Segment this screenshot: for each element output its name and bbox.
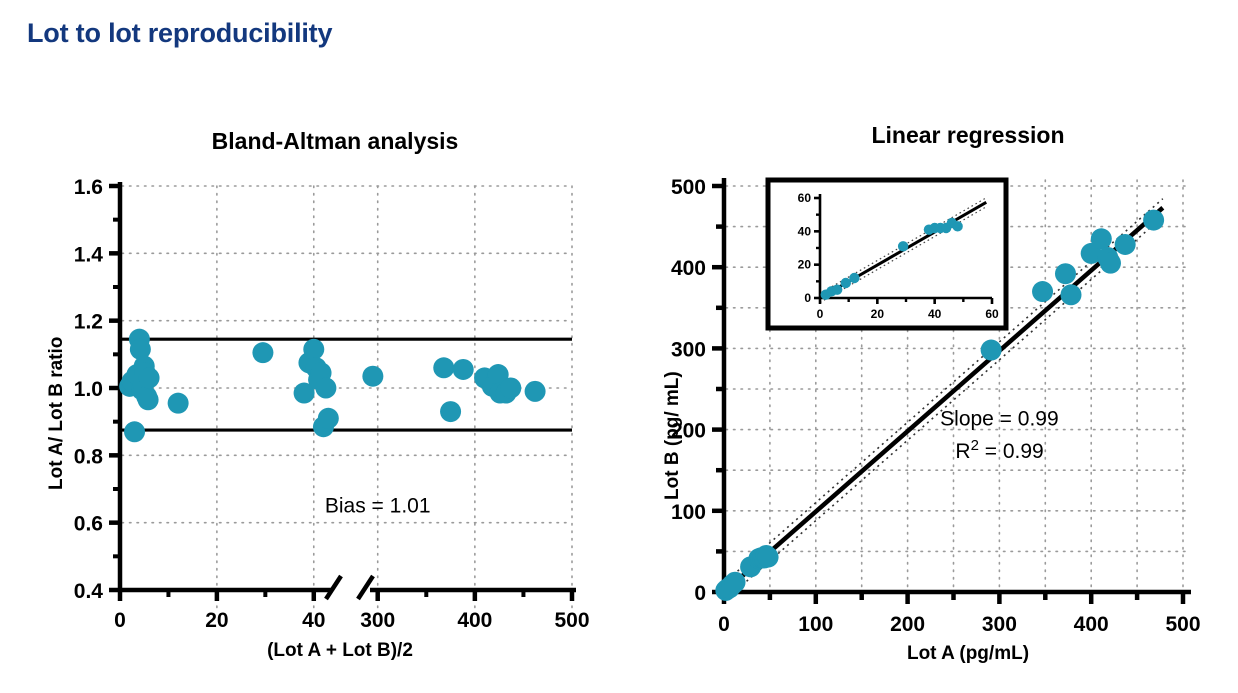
inset-data-point [849,273,859,283]
y-tick-label: 1.4 [74,243,104,266]
bland-altman-plot-area: 0.40.60.81.01.21.41.602040300400500Bias … [0,0,620,693]
y-tick-label: 0.6 [74,513,103,536]
r-squared-annotation: R2 = 0.99 [955,437,1043,463]
y-tick-label: 400 [671,257,706,280]
data-point [1100,253,1121,274]
chart-linear-regression: Linear regression Lot B (pg/ mL) Lot A (… [618,0,1238,693]
inset-x-tick-label: 60 [985,307,999,321]
y-tick-label: 500 [671,176,706,199]
inset-x-tick-label: 0 [817,307,824,321]
inset-data-point [898,241,908,251]
x-tick-label: 40 [302,609,325,632]
linear-regression-plot-area: 01002003004005000100200300400500Slope = … [618,0,1238,693]
inset-y-tick-label: 60 [798,191,812,205]
data-point [981,340,1002,361]
data-point [1115,234,1136,255]
x-tick-label: 300 [982,613,1017,636]
inset-plot: 02040600204060 [768,180,1006,328]
y-tick-label: 200 [671,420,706,443]
data-point [453,359,474,380]
x-tick-label: 0 [114,609,126,632]
y-tick-label: 0.4 [74,580,104,603]
data-point [124,421,145,442]
data-points [119,329,545,443]
x-tick-label: 200 [890,613,925,636]
y-tick-label: 0.8 [74,445,104,468]
data-point [362,366,383,387]
data-point [1032,281,1053,302]
chart-bland-altman: Bland-Altman analysis Lot A/ Lot B ratio… [0,0,620,693]
y-tick-label: 100 [671,501,706,524]
x-tick-label: 400 [1074,613,1109,636]
x-tick-label: 20 [205,609,228,632]
y-tick-label: 1.2 [74,311,103,334]
x-tick-label: 100 [798,613,833,636]
data-point [1061,284,1082,305]
inset-data-point [832,284,842,294]
inset-y-tick-label: 40 [798,224,812,238]
data-point [500,378,521,399]
data-point [525,381,546,402]
y-tick-label: 1.6 [74,176,103,199]
data-point [168,393,189,414]
data-point [315,378,336,399]
x-tick-label: 500 [1165,613,1200,636]
data-point [1055,263,1076,284]
x-tick-label: 500 [554,609,589,632]
data-point [138,389,159,410]
y-tick-label: 0 [694,582,706,605]
x-tick-label: 300 [360,609,395,632]
data-point [1143,210,1164,231]
bias-annotation: Bias = 1.01 [325,495,431,518]
x-tick-label: 0 [718,613,730,636]
data-point [303,339,324,360]
inset-y-tick-label: 20 [798,258,812,272]
inset-y-tick-label: 0 [804,291,811,305]
y-tick-label: 1.0 [74,378,103,401]
data-point [1091,228,1112,249]
data-point [725,572,746,593]
data-point [252,342,273,363]
data-point [433,357,454,378]
data-point [318,408,339,429]
data-point [139,367,160,388]
x-tick-label: 400 [457,609,492,632]
inset-data-point [952,221,962,231]
data-point [440,401,461,422]
slope-annotation: Slope = 0.99 [940,408,1059,431]
y-tick-label: 300 [671,338,706,361]
data-point [758,547,779,568]
inset-x-tick-label: 20 [871,307,885,321]
inset-x-tick-label: 40 [928,307,942,321]
